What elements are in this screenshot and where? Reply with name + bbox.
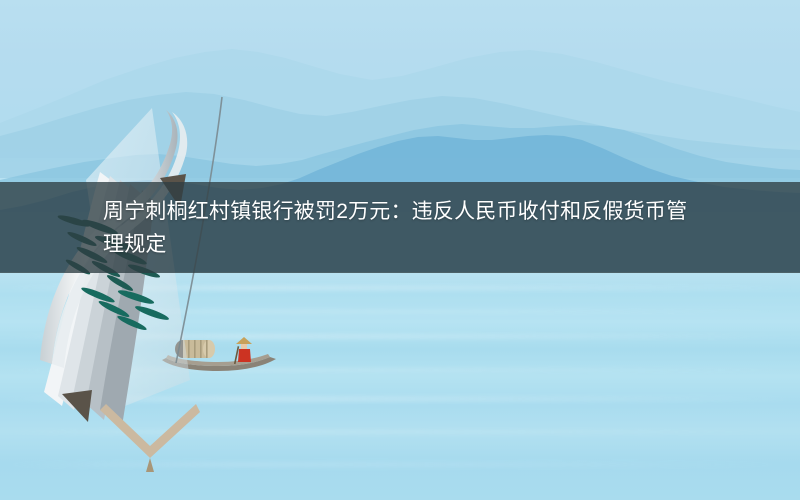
water-streak	[0, 334, 800, 339]
water-streak	[0, 310, 800, 313]
water-streak	[0, 430, 800, 434]
cargo-rib	[200, 340, 202, 358]
cargo-rib	[188, 340, 190, 358]
boat-illustration	[160, 326, 280, 386]
boat-cargo-cap	[203, 340, 215, 358]
water-streak	[0, 368, 800, 372]
cargo-rib	[194, 340, 196, 358]
article-cover-image: 周宁刺桐红村镇银行被罚2万元：违反人民币收付和反假货币管理规定	[0, 0, 800, 500]
title-banner: 周宁刺桐红村镇银行被罚2万元：违反人民币收付和反假货币管理规定	[0, 182, 800, 273]
water-surface	[0, 272, 800, 500]
water-streak	[0, 396, 800, 402]
cargo-rib	[206, 340, 208, 358]
water-streak	[0, 286, 800, 290]
page-title: 周宁刺桐红村镇银行被罚2万元：违反人民币收付和反假货币管理规定	[0, 195, 800, 261]
figure-robe	[238, 349, 251, 362]
figure-straw-hat	[236, 337, 252, 344]
water-streak	[0, 462, 800, 467]
figure-head	[241, 344, 247, 349]
